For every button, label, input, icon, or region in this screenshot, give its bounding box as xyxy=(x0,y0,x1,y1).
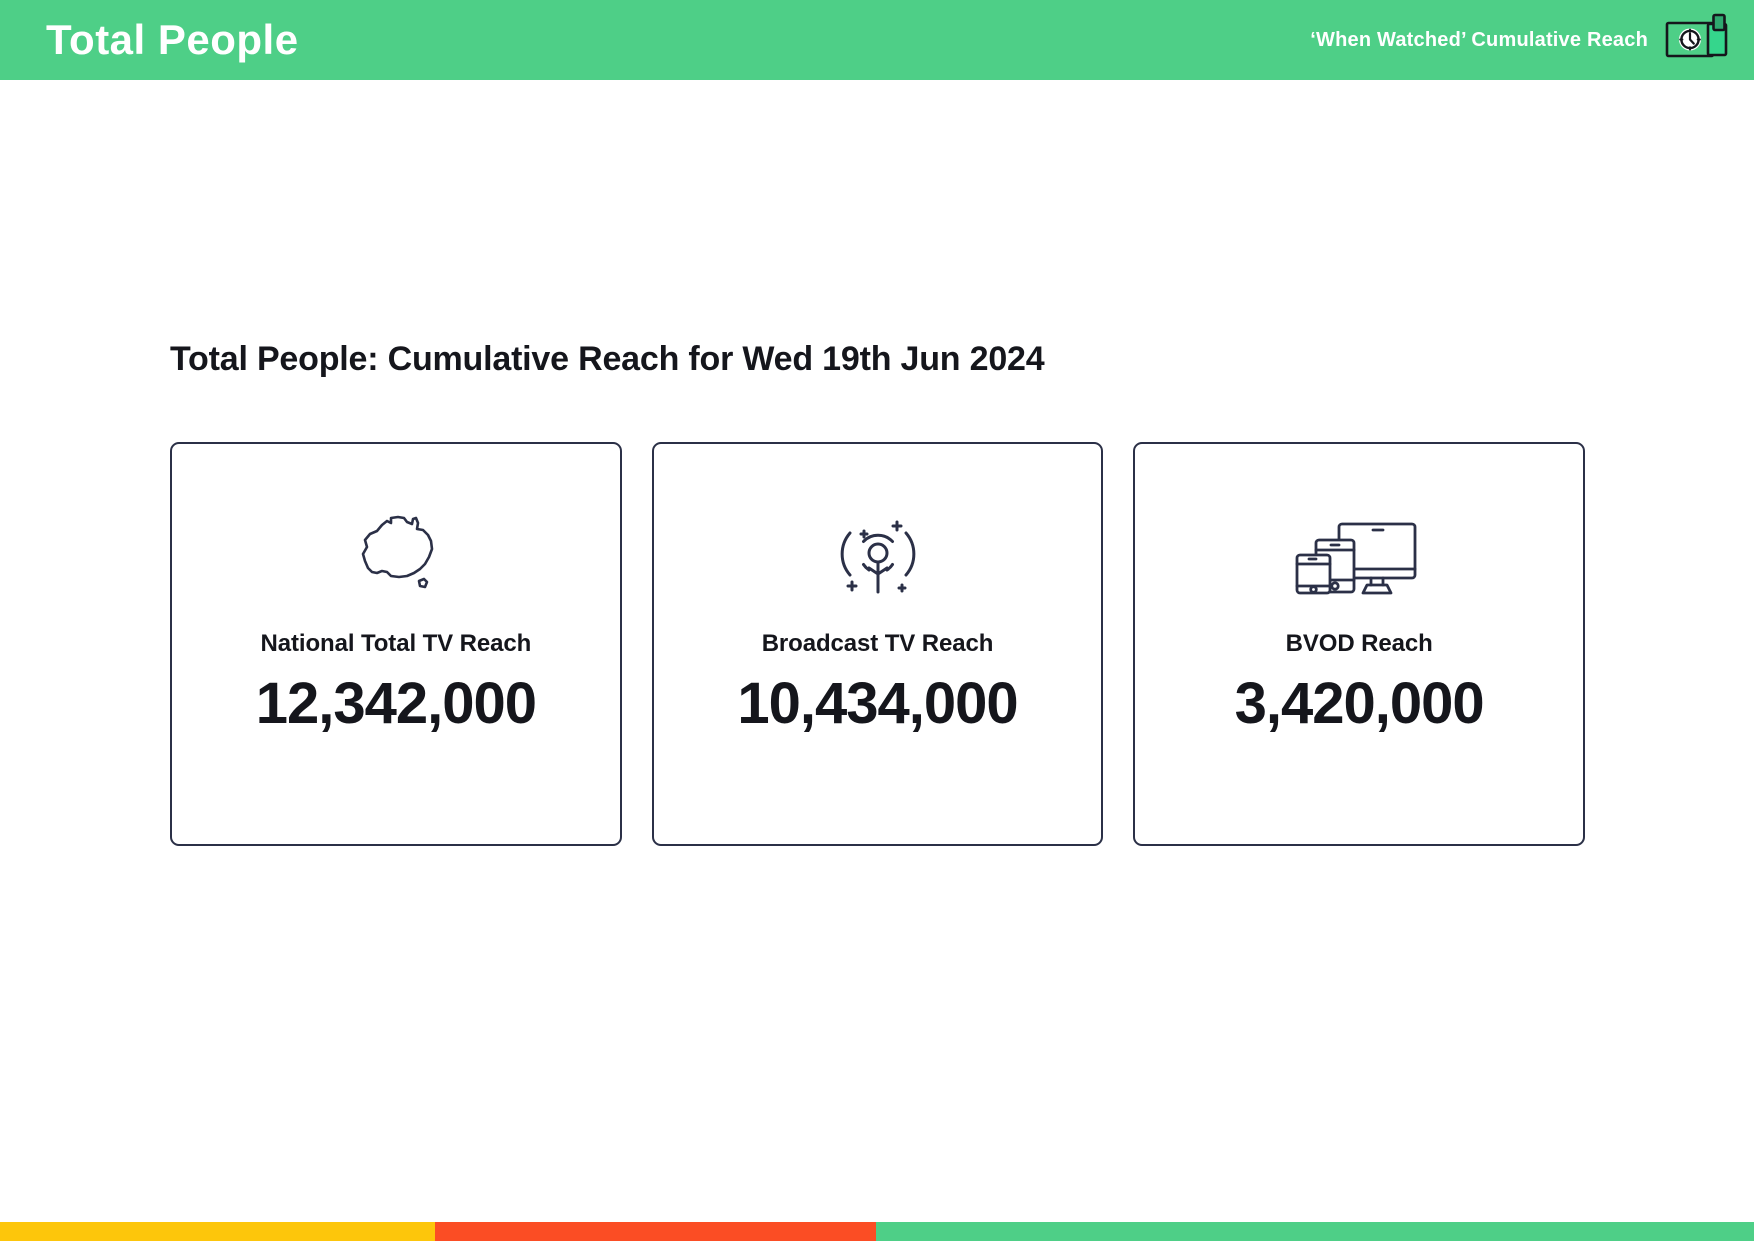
metric-card-value: 10,434,000 xyxy=(737,674,1017,735)
metric-card-bvod[interactable]: BVOD Reach 3,420,000 xyxy=(1133,442,1585,846)
australia-map-icon xyxy=(341,508,451,600)
broadcast-signal-icon xyxy=(828,508,928,600)
footer-segment-green xyxy=(876,1222,1754,1241)
tv-clock-device-icon xyxy=(1664,12,1732,68)
metric-card-group: National Total TV Reach 12,342,000 xyxy=(170,442,1585,846)
metric-card-label: BVOD Reach xyxy=(1286,630,1433,658)
footer-color-bar xyxy=(0,1222,1754,1241)
metric-card-value: 12,342,000 xyxy=(256,674,536,735)
section-title: Total People: Cumulative Reach for Wed 1… xyxy=(170,340,1044,379)
header-right-group: ‘When Watched’ Cumulative Reach xyxy=(1310,12,1732,68)
metric-card-value: 3,420,000 xyxy=(1235,674,1484,735)
metric-card-broadcast-tv[interactable]: Broadcast TV Reach 10,434,000 xyxy=(652,442,1104,846)
multi-device-icon xyxy=(1295,508,1423,600)
metric-card-national-total-tv[interactable]: National Total TV Reach 12,342,000 xyxy=(170,442,622,846)
header-subtitle: ‘When Watched’ Cumulative Reach xyxy=(1310,29,1648,52)
metric-card-label: Broadcast TV Reach xyxy=(762,630,994,658)
footer-segment-yellow xyxy=(0,1222,435,1241)
footer-segment-orange xyxy=(435,1222,876,1241)
main-content: Total People: Cumulative Reach for Wed 1… xyxy=(0,80,1754,1222)
metric-card-label: National Total TV Reach xyxy=(261,630,532,658)
page-title: Total People xyxy=(46,19,299,61)
app-header: Total People ‘When Watched’ Cumulative R… xyxy=(0,0,1754,80)
